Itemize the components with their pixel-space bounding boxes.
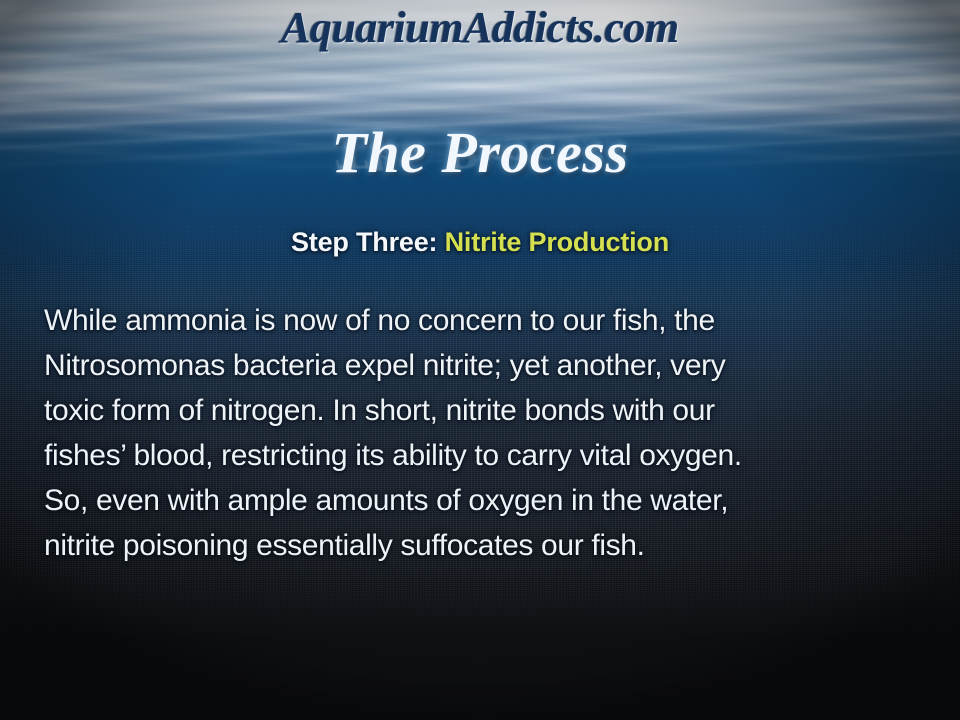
step-heading-label: Step Three: bbox=[291, 227, 437, 257]
body-line: fishes’ blood, restricting its ability t… bbox=[44, 433, 924, 478]
body-paragraph: While ammonia is now of no concern to ou… bbox=[44, 298, 924, 568]
page-title-reflection: The Process bbox=[0, 128, 960, 178]
slide-content: AquariumAddicts.com The Process The Proc… bbox=[0, 0, 960, 720]
body-line: Nitrosomonas bacteria expel nitrite; yet… bbox=[44, 343, 924, 388]
body-line: While ammonia is now of no concern to ou… bbox=[44, 298, 924, 343]
site-logo-wordmark: AquariumAddicts.com bbox=[0, 2, 960, 53]
body-line: nitrite poisoning essentially suffocates… bbox=[44, 523, 924, 568]
presentation-slide: AquariumAddicts.com The Process The Proc… bbox=[0, 0, 960, 720]
body-line: toxic form of nitrogen. In short, nitrit… bbox=[44, 388, 924, 433]
step-heading-space bbox=[437, 227, 444, 257]
step-heading-topic: Nitrite Production bbox=[445, 227, 669, 257]
body-line: So, even with ample amounts of oxygen in… bbox=[44, 478, 924, 523]
step-heading: Step Three: Nitrite Production bbox=[0, 226, 960, 258]
section-title-block: The Process The Process bbox=[0, 122, 960, 240]
